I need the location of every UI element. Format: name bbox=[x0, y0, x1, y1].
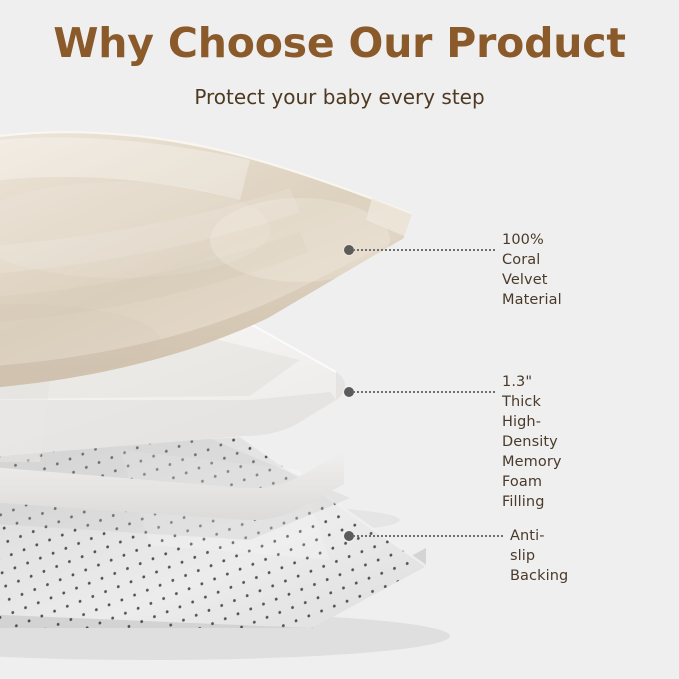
callout-label-coral-velvet: 100% Coral Velvet Material bbox=[502, 230, 562, 310]
page-title: Why Choose Our Product bbox=[0, 0, 679, 67]
page-subtitle: Protect your baby every step bbox=[0, 67, 679, 109]
header: Why Choose Our Product Protect your baby… bbox=[0, 0, 679, 109]
leader-line bbox=[353, 535, 503, 537]
velvet-top-layer bbox=[0, 132, 412, 400]
callout-label-anti-slip: Anti-slip Backing bbox=[510, 526, 568, 586]
callout-label-memory-foam: 1.3" Thick High-Density Memory Foam Fill… bbox=[502, 372, 562, 512]
leader-line bbox=[353, 391, 495, 393]
leader-line bbox=[353, 249, 495, 251]
infographic-canvas: Why Choose Our Product Protect your baby… bbox=[0, 0, 679, 679]
